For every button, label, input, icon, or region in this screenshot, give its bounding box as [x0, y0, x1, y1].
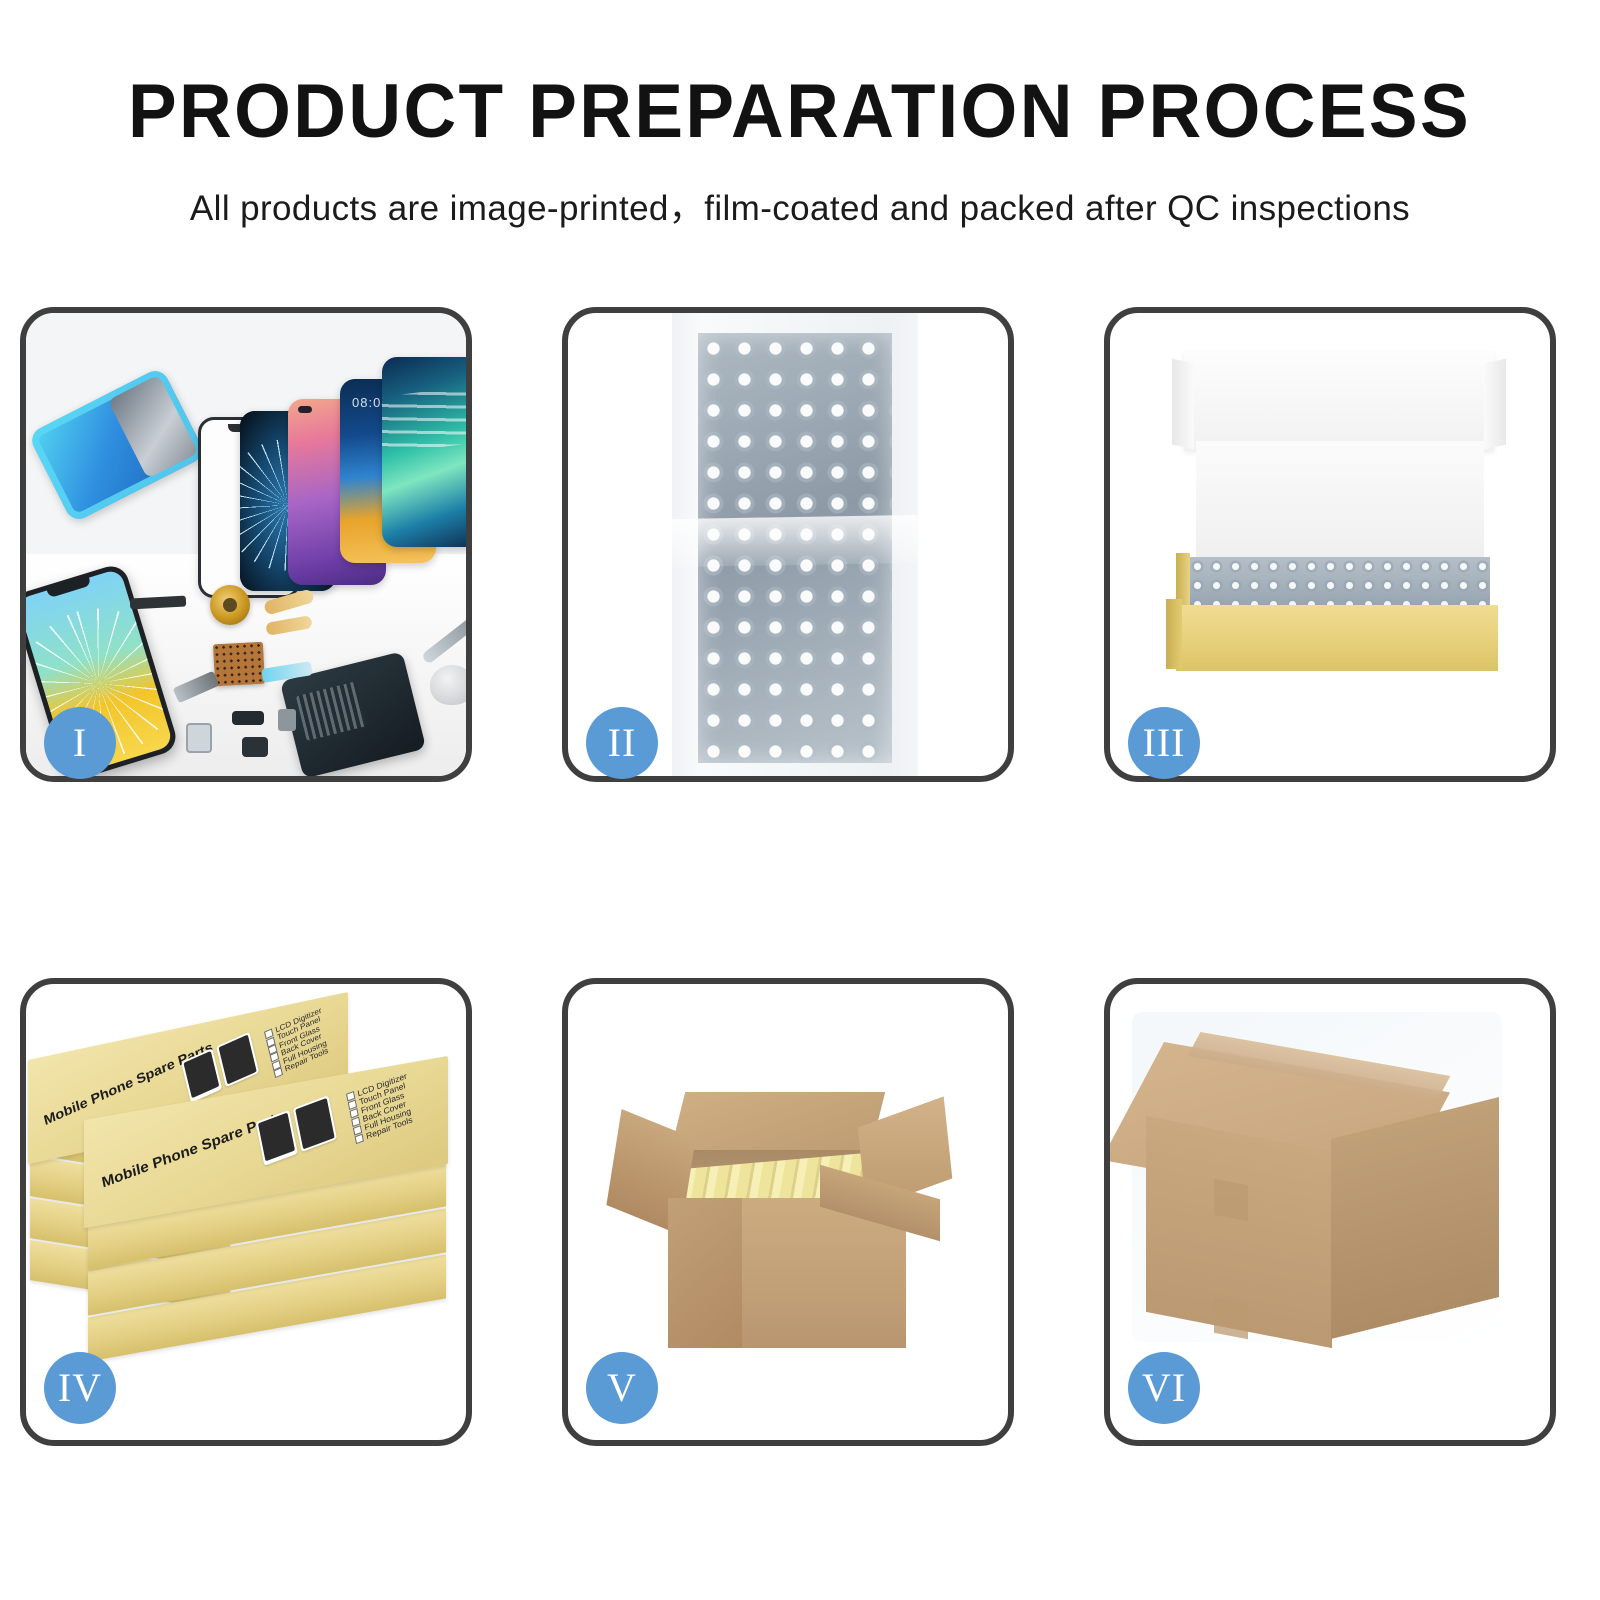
step-badge-2: II: [586, 707, 658, 779]
step-2-image: [568, 313, 1008, 776]
sim-slot-icon: [186, 723, 212, 753]
retail-box-checklist: LCD Digitizer Touch Panel Front Glass Ba…: [346, 1072, 416, 1145]
step-badge-3: III: [1128, 707, 1200, 779]
process-step-grid: 08:08 I: [0, 0, 1600, 1600]
process-step-panel-3[interactable]: III: [1104, 307, 1556, 782]
bubble-wrapped-contents-icon: [1188, 557, 1490, 609]
process-step-panel-2[interactable]: II: [562, 307, 1014, 782]
sim-tray-icon: [278, 709, 296, 731]
repair-brush-icon: [430, 665, 466, 705]
carton-front-left-icon: [668, 1198, 742, 1348]
process-step-panel-1[interactable]: 08:08 I: [20, 307, 472, 782]
product-photo: [216, 1032, 259, 1087]
mailer-box-front-icon: [1176, 605, 1498, 671]
retail-box-product-photos: [256, 1095, 337, 1166]
process-step-panel-5[interactable]: V: [562, 978, 1014, 1446]
bubble-wrap-package-icon: [672, 313, 918, 776]
step-3-image: [1110, 313, 1550, 776]
carton-right-face-icon: [1331, 1097, 1499, 1339]
product-photo: [293, 1095, 337, 1152]
mailer-box-lid-icon: [1184, 351, 1494, 451]
adhesive-frame-icon: [27, 366, 206, 523]
process-step-panel-4[interactable]: Mobile Phone Spare Parts LCD Digitizer T…: [20, 978, 472, 1446]
speaker-mesh-icon: [130, 596, 186, 610]
tape-tab-top-icon: [1214, 1179, 1248, 1222]
mailer-box-back-icon: [1196, 441, 1484, 563]
repair-tool-icon: [421, 617, 466, 665]
step-badge-5: V: [586, 1352, 658, 1424]
step-1-image: 08:08: [26, 313, 466, 776]
vibrator-icon: [232, 711, 264, 725]
retail-box-checklist: LCD Digitizer Touch Panel Front Glass Ba…: [264, 1007, 332, 1079]
step-badge-4: IV: [44, 1352, 116, 1424]
process-step-panel-6[interactable]: VI: [1104, 978, 1556, 1446]
step-badge-1: I: [44, 707, 116, 779]
wireless-charging-coil-icon: [210, 585, 250, 625]
step-badge-6: VI: [1128, 1352, 1200, 1424]
ic-chip-icon: [213, 642, 265, 687]
connector-icon: [242, 737, 268, 757]
tape-tab-bottom-icon: [1214, 1297, 1248, 1340]
phone-display-teal-icon: [382, 357, 466, 547]
camera-module-icon: [173, 671, 220, 704]
phone-parts-collage: 08:08: [26, 313, 466, 776]
flex-cable-2-icon: [265, 615, 313, 636]
